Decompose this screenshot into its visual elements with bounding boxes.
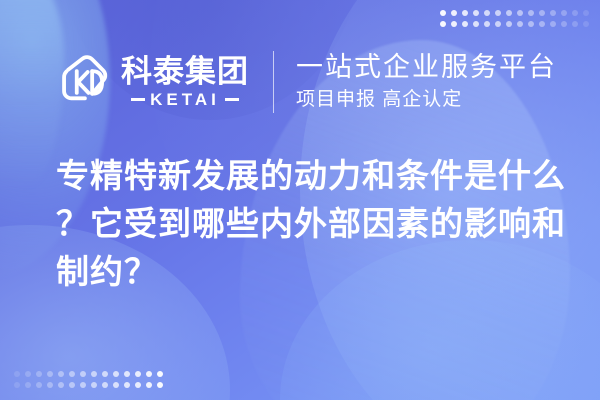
- dot: [80, 382, 86, 388]
- dot: [36, 371, 42, 377]
- headline-line-2: ？它受到哪些内外部因素的影响和: [56, 200, 556, 248]
- dot: [14, 382, 20, 388]
- dot: [25, 382, 31, 388]
- dot: [80, 371, 86, 377]
- dot: [473, 21, 479, 27]
- dot: [102, 371, 108, 377]
- ketai-diamond-kd-logo-icon: [55, 53, 113, 111]
- dot: [36, 382, 42, 388]
- header-divider: [273, 51, 274, 113]
- dot: [451, 10, 457, 16]
- dot: [58, 382, 64, 388]
- dot: [135, 371, 141, 377]
- logo-lockup[interactable]: 科泰集团 KETAI: [55, 53, 249, 111]
- dot-row: [14, 382, 163, 388]
- dot-row: [440, 10, 589, 16]
- dot: [47, 371, 53, 377]
- dot-grid-top-right: [440, 10, 589, 27]
- dot: [528, 10, 534, 16]
- dot: [484, 21, 490, 27]
- dot: [25, 371, 31, 377]
- promo-banner: 科泰集团 KETAI 一站式企业服务平台 项目申报 高企认定 专精特新发展的动力…: [0, 0, 600, 400]
- dot: [113, 371, 119, 377]
- dot: [462, 10, 468, 16]
- dot: [146, 382, 152, 388]
- tagline-sub: 项目申报 高企认定: [296, 88, 557, 113]
- dot: [572, 10, 578, 16]
- dot: [473, 10, 479, 16]
- dot-grid-bottom-left: [14, 371, 163, 388]
- dot: [495, 10, 501, 16]
- headline-line-3: 制约？: [56, 248, 556, 296]
- logo-name-cn: 科泰集团: [121, 56, 249, 89]
- dot: [528, 21, 534, 27]
- dot-row: [440, 21, 589, 27]
- dot: [124, 371, 130, 377]
- dot: [440, 10, 446, 16]
- dot: [91, 371, 97, 377]
- dot: [47, 382, 53, 388]
- dot: [583, 10, 589, 16]
- dot: [550, 10, 556, 16]
- dot: [561, 10, 567, 16]
- dot: [561, 21, 567, 27]
- dot: [506, 21, 512, 27]
- dot: [58, 371, 64, 377]
- logo-rule-right: [225, 98, 239, 101]
- dot: [14, 371, 20, 377]
- tagline-main: 一站式企业服务平台: [296, 51, 557, 83]
- dot: [506, 10, 512, 16]
- tagline-block: 一站式企业服务平台 项目申报 高企认定: [296, 51, 557, 112]
- dot: [113, 382, 119, 388]
- dot: [462, 21, 468, 27]
- brand-header: 科泰集团 KETAI 一站式企业服务平台 项目申报 高企认定: [55, 44, 557, 120]
- headline-line-1: 专精特新发展的动力和条件是什么: [56, 152, 556, 200]
- logo-english-row: KETAI: [131, 91, 239, 108]
- dot: [583, 21, 589, 27]
- dot: [102, 382, 108, 388]
- dot: [157, 382, 163, 388]
- dot: [69, 371, 75, 377]
- dot: [484, 10, 490, 16]
- dot: [539, 10, 545, 16]
- logo-wordmark: 科泰集团 KETAI: [121, 56, 249, 108]
- dot: [135, 382, 141, 388]
- dot: [572, 21, 578, 27]
- dot: [495, 21, 501, 27]
- dot: [539, 21, 545, 27]
- dot: [550, 21, 556, 27]
- headline: 专精特新发展的动力和条件是什么 ？它受到哪些内外部因素的影响和 制约？: [56, 152, 556, 296]
- dot: [91, 382, 97, 388]
- dot: [69, 382, 75, 388]
- dot: [440, 21, 446, 27]
- dot: [517, 21, 523, 27]
- dot: [517, 10, 523, 16]
- dot: [124, 382, 130, 388]
- logo-name-en: KETAI: [150, 91, 220, 108]
- dot: [157, 371, 163, 377]
- dot: [451, 21, 457, 27]
- logo-rule-left: [131, 98, 145, 101]
- dot-row: [14, 371, 163, 377]
- dot: [146, 371, 152, 377]
